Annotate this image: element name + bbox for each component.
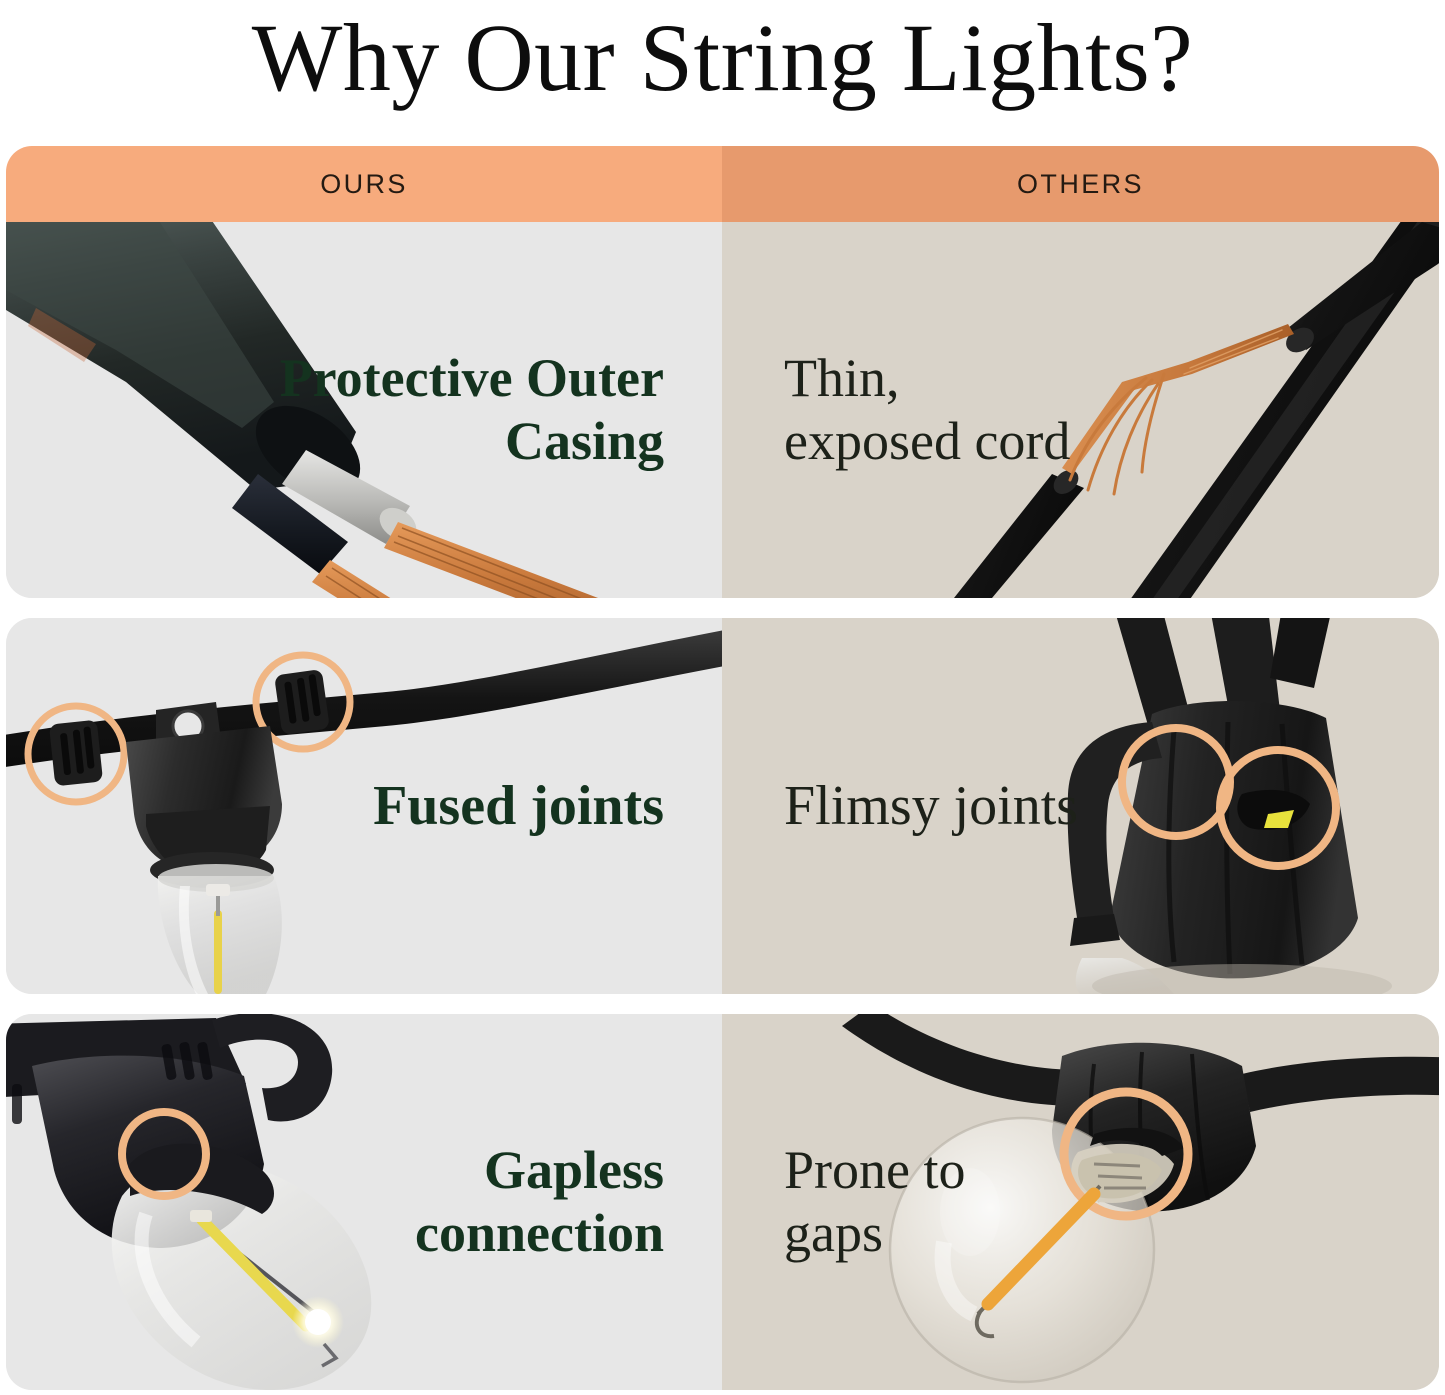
column-header-others: OTHERS [722,146,1439,222]
cell-others-casing: Thin, exposed cord [722,222,1439,598]
ours-label-connection: Gapless connection [252,1139,722,1264]
others-label-connection: Prone to gaps [722,1139,966,1264]
cell-others-joints: Flimsy joints [722,618,1439,994]
comparison-row-connection: Gapless connection [6,1014,1439,1390]
others-label-casing: Thin, exposed cord [722,347,1070,472]
column-header-ours: OURS [6,146,722,222]
comparison-row-casing: Protective Outer Casing [6,222,1439,598]
cell-ours-joints: Fused joints [6,618,722,994]
cell-ours-connection: Gapless connection [6,1014,722,1390]
comparison-table: OURS OTHERS [6,146,1439,1390]
ours-label-joints: Fused joints [373,774,722,839]
comparison-row-joints: Fused joints [6,618,1439,994]
others-label-joints: Flimsy joints [722,774,1078,839]
ours-label-casing: Protective Outer Casing [252,347,722,472]
page-title: Why Our String Lights? [0,0,1445,138]
cell-ours-casing: Protective Outer Casing [6,222,722,598]
cell-others-connection: Prone to gaps [722,1014,1439,1390]
comparison-header-bar: OURS OTHERS [6,146,1439,222]
